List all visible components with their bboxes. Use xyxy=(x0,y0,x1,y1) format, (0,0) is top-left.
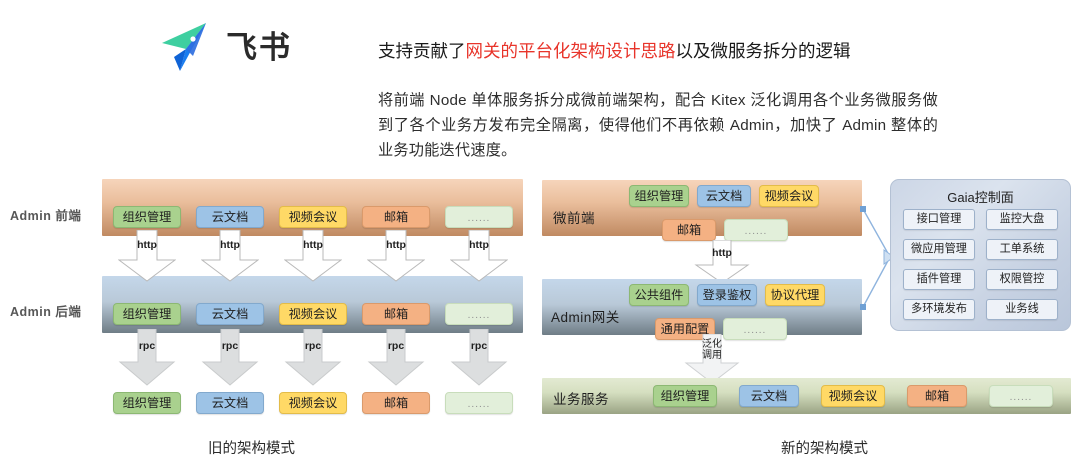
gaia-chip-0[interactable]: 接口管理 xyxy=(903,209,975,230)
old-frontend-chip-1[interactable]: 云文档 xyxy=(196,206,264,228)
micro-frontend-label: 微前端 xyxy=(553,207,595,227)
micro-frontend-chip-2[interactable]: 视频会议 xyxy=(759,185,819,207)
old-rpc-arrow-1: rpc xyxy=(201,329,259,386)
old-http-arrow-3: http xyxy=(367,230,425,282)
gaia-chip-5[interactable]: 权限管控 xyxy=(986,269,1058,290)
old-http-arrow-4: http xyxy=(450,230,508,282)
brand-name: 飞书 xyxy=(226,32,292,63)
old-service-chip-0[interactable]: 组织管理 xyxy=(113,392,181,414)
gaia-chip-7[interactable]: 业务线 xyxy=(986,299,1058,320)
headline-prefix: 支持贡献了 xyxy=(378,41,466,61)
micro-frontend-chip-0[interactable]: 组织管理 xyxy=(629,185,689,207)
ellipsis-text: ...... xyxy=(1010,392,1033,403)
old-backend-chip-2[interactable]: 视频会议 xyxy=(279,303,347,325)
gaia-chip-2[interactable]: 微应用管理 xyxy=(903,239,975,260)
old-backend-chip-4[interactable]: ...... xyxy=(445,303,513,325)
old-frontend-chip-2[interactable]: 视频会议 xyxy=(279,206,347,228)
admin-gateway-label: Admin网关 xyxy=(551,306,620,326)
ellipsis-text: ...... xyxy=(745,226,768,237)
gaia-chip-6[interactable]: 多环境发布 xyxy=(903,299,975,320)
micro-frontend-chip-3[interactable]: 邮箱 xyxy=(662,219,716,241)
ellipsis-text: ...... xyxy=(468,399,491,410)
gateway-chip-1[interactable]: 登录鉴权 xyxy=(697,284,757,306)
old-backend-chip-1[interactable]: 云文档 xyxy=(196,303,264,325)
old-rpc-arrow-2: rpc xyxy=(284,329,342,386)
old-http-arrow-1: http xyxy=(201,230,259,282)
old-service-chip-3[interactable]: 邮箱 xyxy=(362,392,430,414)
business-service-chip-0[interactable]: 组织管理 xyxy=(653,385,717,407)
business-service-chip-3[interactable]: 邮箱 xyxy=(907,385,967,407)
brand-logo: 飞书 xyxy=(160,18,310,76)
old-http-arrow-2: http xyxy=(284,230,342,282)
gaia-chip-1[interactable]: 监控大盘 xyxy=(986,209,1058,230)
ellipsis-text: ...... xyxy=(744,325,767,336)
body-paragraph: 将前端 Node 单体服务拆分成微前端架构，配合 Kitex 泛化调用各个业务微… xyxy=(378,88,938,163)
gaia-chip-3[interactable]: 工单系统 xyxy=(986,239,1058,260)
new-diagram-caption: 新的架构模式 xyxy=(781,437,868,458)
business-service-chip-2[interactable]: 视频会议 xyxy=(821,385,885,407)
business-service-label: 业务服务 xyxy=(553,388,609,408)
gaia-control-panel: Gaia控制面 接口管理 监控大盘 微应用管理 工单系统 插件管理 权限管控 多… xyxy=(890,179,1071,331)
feishu-paper-plane-icon xyxy=(160,21,216,73)
gaia-panel-title: Gaia控制面 xyxy=(891,187,1070,206)
page-title: 支持贡献了网关的平台化架构设计思路以及微服务拆分的逻辑 xyxy=(378,38,851,64)
business-service-chip-1[interactable]: 云文档 xyxy=(739,385,799,407)
gateway-chip-0[interactable]: 公共组件 xyxy=(629,284,689,306)
generic-call-arrow: 泛化 调用 xyxy=(684,334,740,384)
old-diagram-caption: 旧的架构模式 xyxy=(208,437,295,458)
old-row-label-backend: Admin 后端 xyxy=(10,301,81,320)
ellipsis-text: ...... xyxy=(468,213,491,224)
old-backend-chip-3[interactable]: 邮箱 xyxy=(362,303,430,325)
old-rpc-arrow-0: rpc xyxy=(118,329,176,386)
old-row-label-frontend: Admin 前端 xyxy=(10,205,81,224)
new-http-arrow: http xyxy=(694,240,750,284)
gaia-chip-4[interactable]: 插件管理 xyxy=(903,269,975,290)
headline-highlight: 网关的平台化架构设计思路 xyxy=(466,41,676,61)
old-rpc-arrow-3: rpc xyxy=(367,329,425,386)
old-service-chip-2[interactable]: 视频会议 xyxy=(279,392,347,414)
old-service-chip-4[interactable]: ...... xyxy=(445,392,513,414)
micro-frontend-chip-4[interactable]: ...... xyxy=(724,219,788,241)
business-service-chip-4[interactable]: ...... xyxy=(989,385,1053,407)
headline-suffix: 以及微服务拆分的逻辑 xyxy=(676,41,851,61)
old-http-arrow-0: http xyxy=(118,230,176,282)
old-rpc-arrow-4: rpc xyxy=(450,329,508,386)
old-frontend-chip-4[interactable]: ...... xyxy=(445,206,513,228)
micro-frontend-chip-1[interactable]: 云文档 xyxy=(697,185,751,207)
old-frontend-chip-0[interactable]: 组织管理 xyxy=(113,206,181,228)
ellipsis-text: ...... xyxy=(468,310,491,321)
gateway-chip-2[interactable]: 协议代理 xyxy=(765,284,825,306)
old-backend-chip-0[interactable]: 组织管理 xyxy=(113,303,181,325)
old-service-chip-1[interactable]: 云文档 xyxy=(196,392,264,414)
old-frontend-chip-3[interactable]: 邮箱 xyxy=(362,206,430,228)
